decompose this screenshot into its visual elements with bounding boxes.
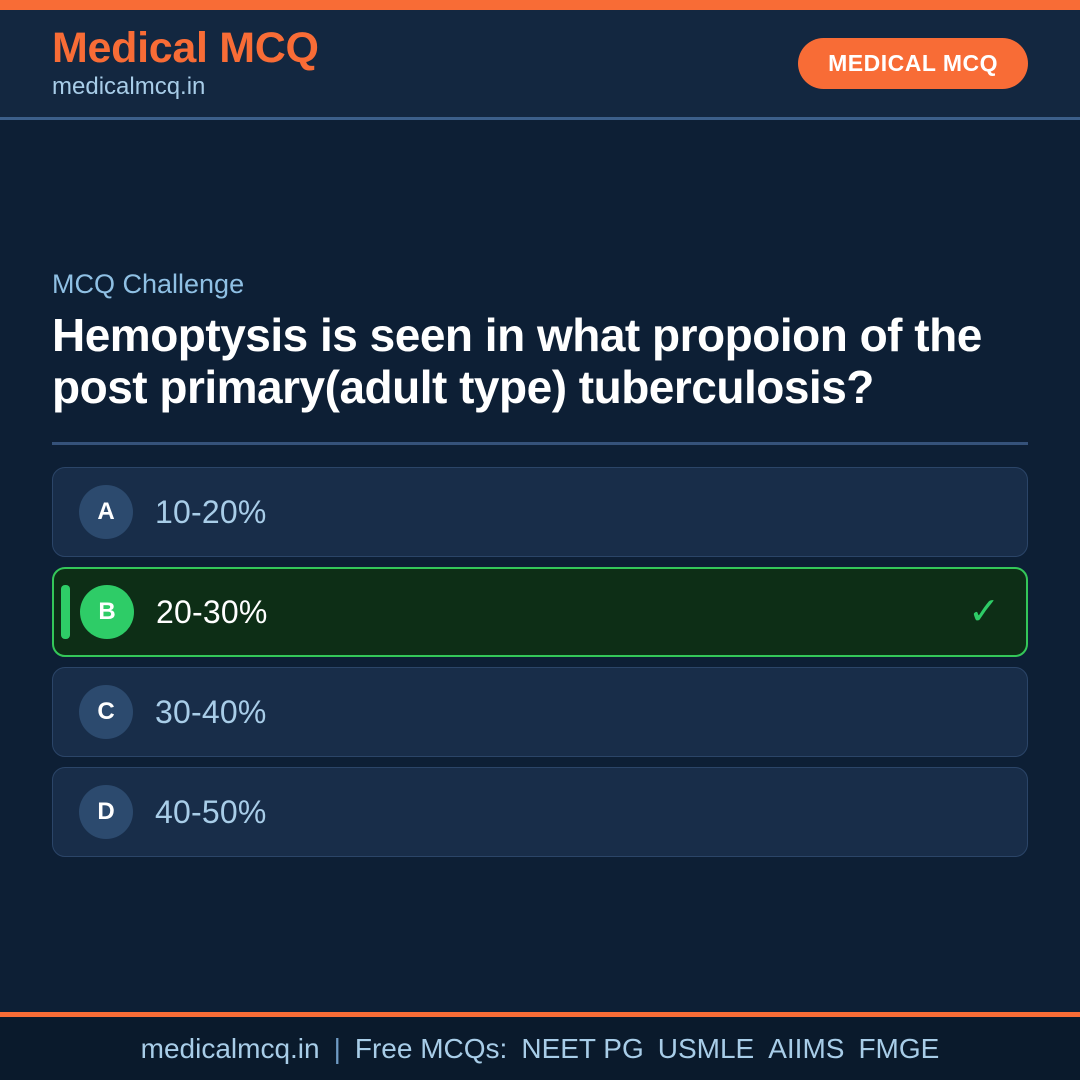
kicker-label: MCQ Challenge <box>52 268 1028 300</box>
footer-label: Free MCQs: <box>355 1033 507 1065</box>
footer-exam-aiims[interactable]: AIIMS <box>768 1033 844 1065</box>
footer-inner: medicalmcq.in | Free MCQs: NEET PG USMLE… <box>141 1033 940 1065</box>
brand-block: Medical MCQ medicalmcq.in <box>52 25 319 102</box>
option-row-b[interactable]: B 20-30% ✓ <box>52 567 1028 657</box>
correct-accent-bar <box>61 585 70 639</box>
page-header: Medical MCQ medicalmcq.in MEDICAL MCQ <box>0 10 1080 120</box>
option-letter-badge: B <box>80 585 134 639</box>
mcq-card: Medical MCQ medicalmcq.in MEDICAL MCQ MC… <box>0 0 1080 1080</box>
option-label: 40-50% <box>155 794 267 831</box>
option-letter-badge: D <box>79 785 133 839</box>
footer-exam-fmge[interactable]: FMGE <box>858 1033 939 1065</box>
question-text: Hemoptysis is seen in what propoion of t… <box>52 310 1028 414</box>
option-label: 30-40% <box>155 694 267 731</box>
section-divider <box>52 442 1028 445</box>
footer-exam-usmle[interactable]: USMLE <box>658 1033 754 1065</box>
footer-exam-neetpg[interactable]: NEET PG <box>521 1033 643 1065</box>
option-label: 10-20% <box>155 494 267 531</box>
footer-site-link[interactable]: medicalmcq.in <box>141 1033 320 1065</box>
footer-exam-list: NEET PG USMLE AIIMS FMGE <box>521 1033 939 1065</box>
option-row-c[interactable]: C 30-40% ✓ <box>52 667 1028 757</box>
option-row-d[interactable]: D 40-50% ✓ <box>52 767 1028 857</box>
option-row-a[interactable]: A 10-20% ✓ <box>52 467 1028 557</box>
top-accent-bar <box>0 0 1080 10</box>
options-list: A 10-20% ✓ B 20-30% ✓ C 30-40% ✓ D 40-50… <box>52 467 1028 857</box>
header-badge[interactable]: MEDICAL MCQ <box>798 38 1028 89</box>
option-label: 20-30% <box>156 594 268 631</box>
brand-subtitle: medicalmcq.in <box>52 73 319 102</box>
footer-separator: | <box>334 1033 341 1065</box>
page-footer: medicalmcq.in | Free MCQs: NEET PG USMLE… <box>0 1012 1080 1080</box>
option-letter-badge: C <box>79 685 133 739</box>
option-letter-badge: A <box>79 485 133 539</box>
correct-check-icon: ✓ <box>968 593 1000 631</box>
brand-title: Medical MCQ <box>52 25 319 71</box>
main-content: MCQ Challenge Hemoptysis is seen in what… <box>0 120 1080 1012</box>
